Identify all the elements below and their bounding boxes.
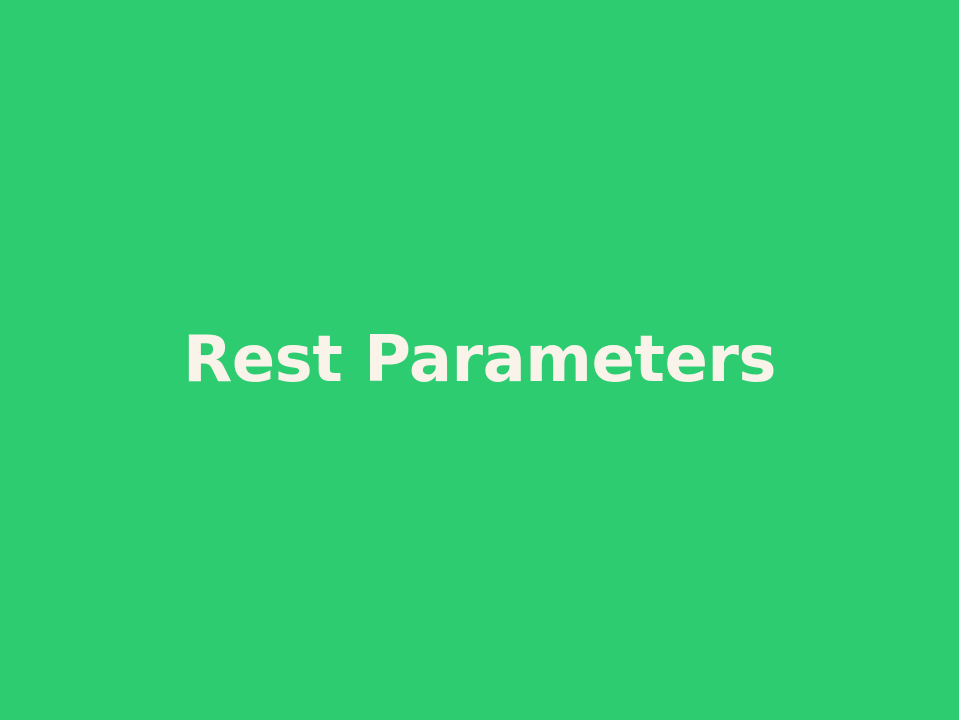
title-slide: Rest Parameters bbox=[0, 0, 959, 720]
page-title: Rest Parameters bbox=[183, 327, 776, 394]
slide-content: Rest Parameters bbox=[0, 327, 959, 394]
